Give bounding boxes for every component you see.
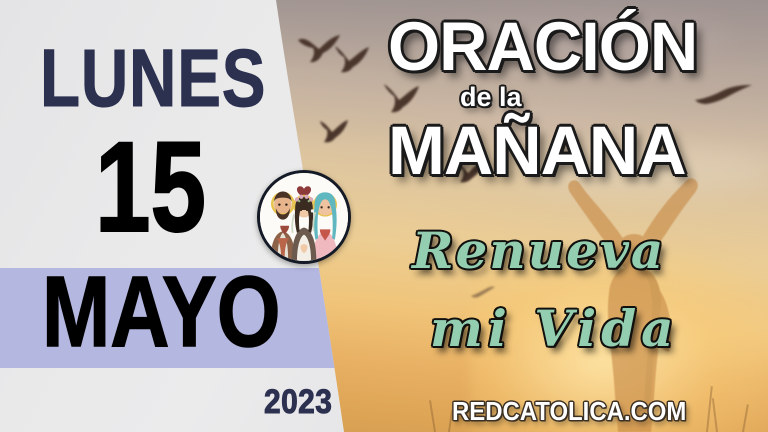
headline-connector: de la <box>460 84 522 111</box>
weekday-label: LUNES <box>40 38 266 120</box>
holy-family-illustration <box>260 173 348 261</box>
day-number: 15 <box>95 128 206 248</box>
subtitle-line-2: mi Vida <box>430 304 679 354</box>
subtitle-line-1: Renueva <box>412 226 665 276</box>
devotional-poster: LUNES 15 MAYO 2023 <box>0 0 768 432</box>
bird-icon <box>318 118 350 144</box>
year-label: 2023 <box>264 385 332 419</box>
bird-icon <box>380 82 422 114</box>
bird-icon <box>694 84 754 106</box>
brand-watermark: REDCATOLICA.COM <box>452 398 686 424</box>
headline-line-1: ORACIÓN <box>388 12 749 82</box>
grass-blade <box>429 400 436 432</box>
headline-line-2: MAÑANA <box>388 116 686 186</box>
bird-icon <box>332 44 372 74</box>
month-label: MAYO <box>42 262 280 362</box>
holy-family-emblem <box>257 170 351 264</box>
headline-block: ORACIÓN de la MAÑANA <box>388 12 760 82</box>
bird-icon <box>470 286 496 300</box>
